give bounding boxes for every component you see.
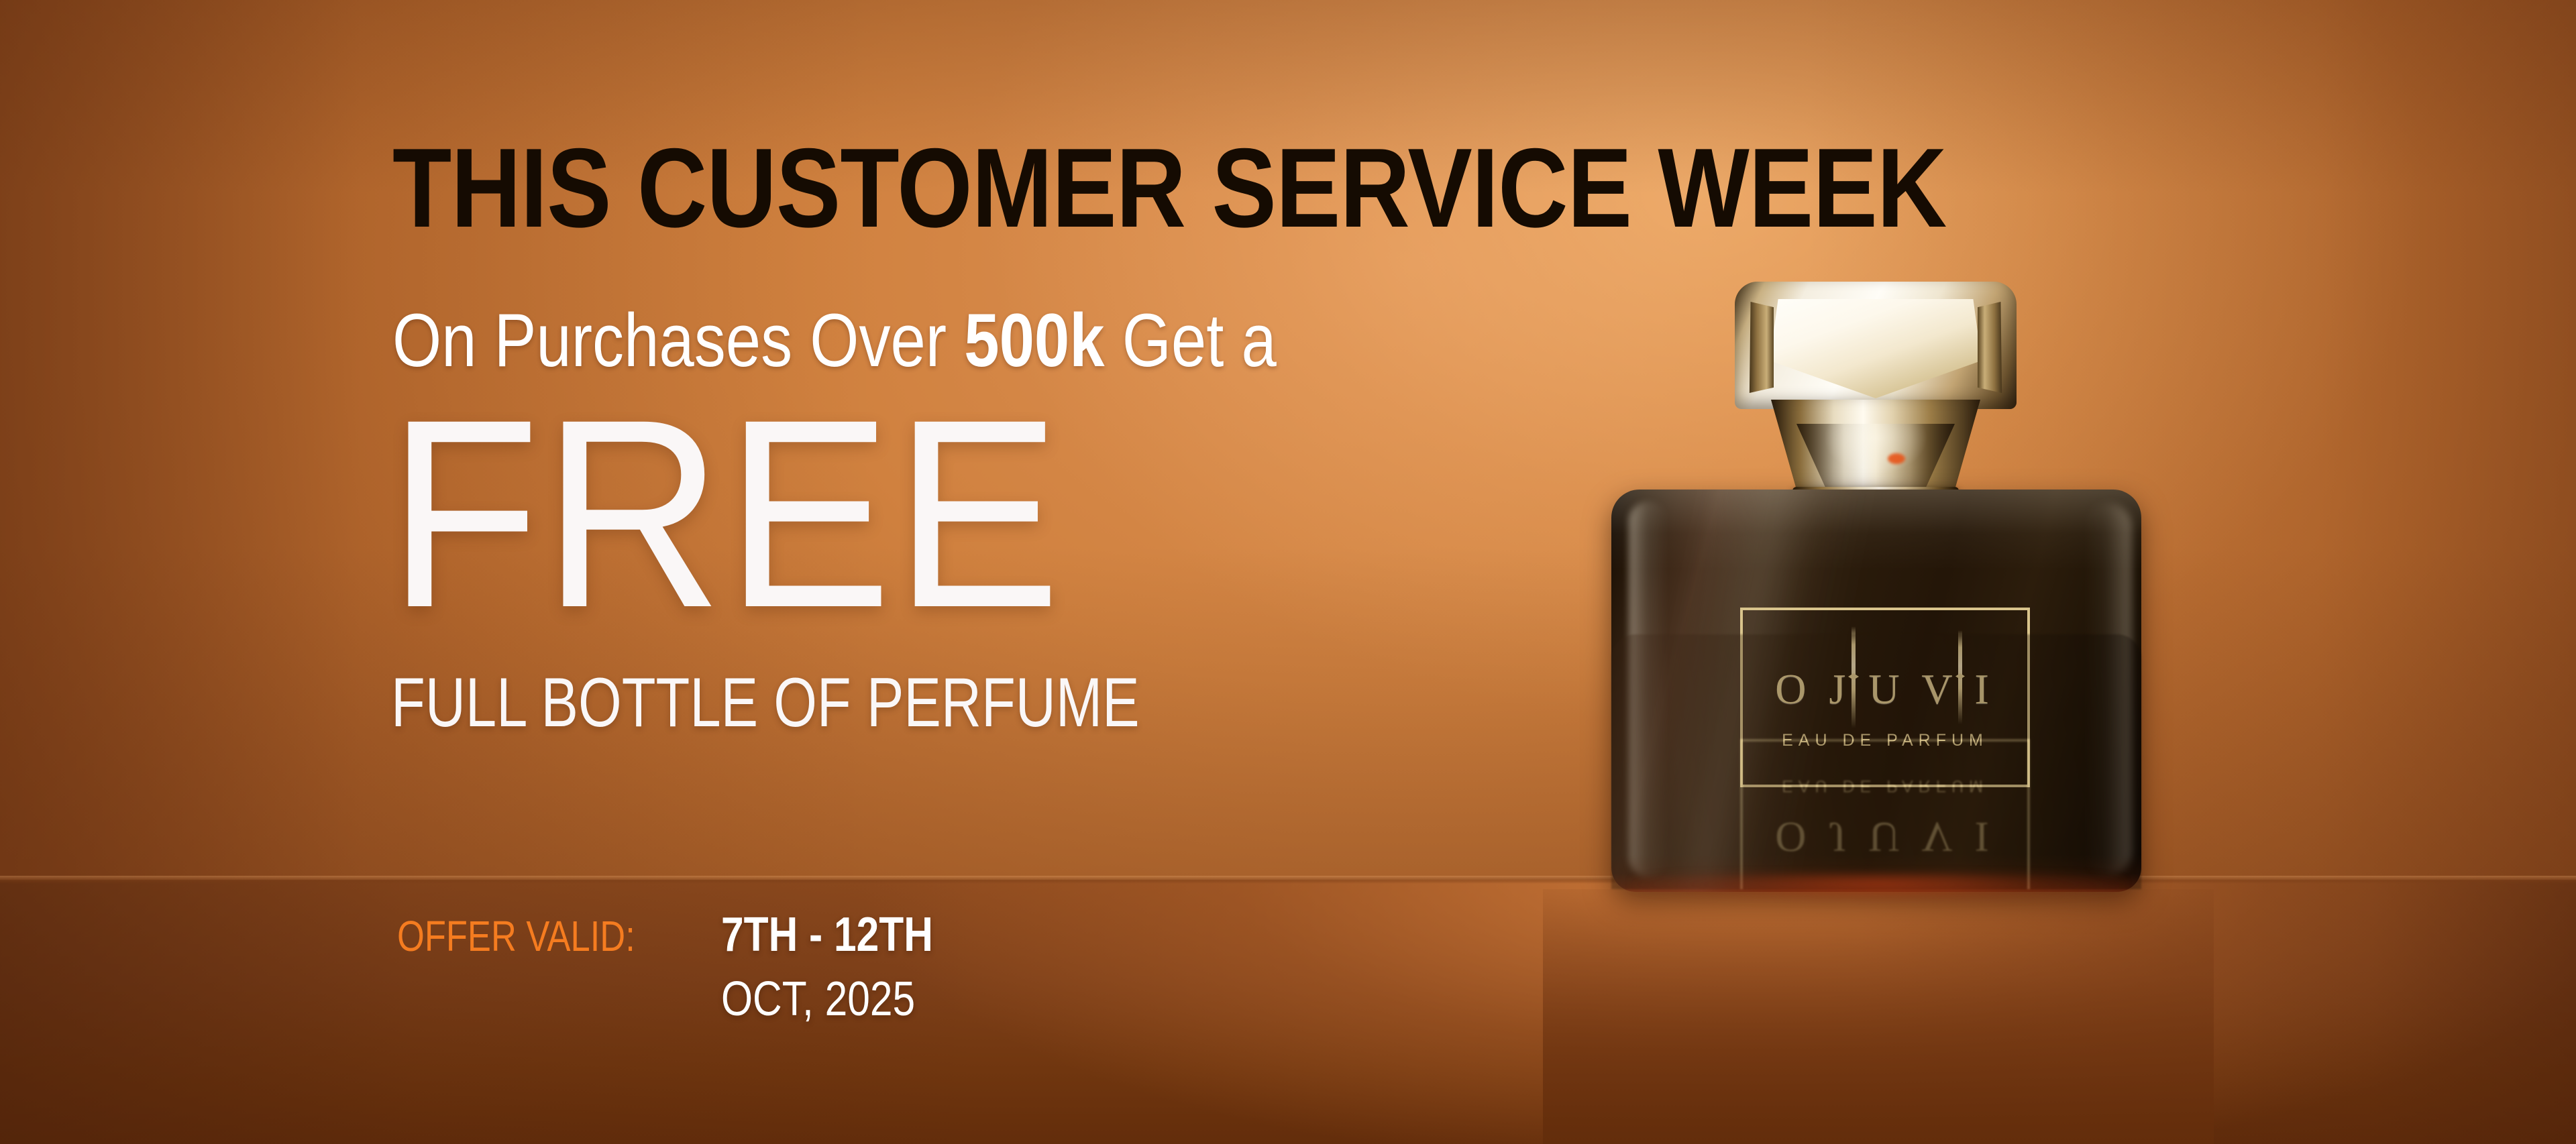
free-subtitle: FULL BOTTLE OF PERFUME: [391, 668, 1140, 738]
offer-dates: 7TH - 12TH OCT, 2025: [721, 911, 973, 1023]
promo-banner: THIS CUSTOMER SERVICE WEEK On Purchases …: [0, 0, 2576, 1144]
free-headline: FREE: [388, 380, 1063, 648]
perfume-bottle-icon: O J U V I EAU DE PARFUM: [1611, 490, 2141, 892]
brand-name: O J U V I: [1743, 668, 2027, 711]
bottle-left-gloss: [1629, 502, 1668, 877]
offer-validity-block: OFFER VALID: 7TH - 12TH OCT, 2025: [397, 911, 973, 1023]
bottle-top-gloss: [1611, 490, 2141, 570]
perfume-cap-icon: [1735, 282, 2017, 503]
perfume-product-image: O J U V I EAU DE PARFUM: [1597, 282, 2267, 1144]
bottle-right-gloss: [2084, 503, 2132, 876]
offer-date-range: 7TH - 12TH: [721, 911, 933, 959]
subline-suffix: Get a: [1105, 298, 1277, 382]
page-title: THIS CUSTOMER SERVICE WEEK: [392, 131, 1946, 244]
promo-copy-block: THIS CUSTOMER SERVICE WEEK On Purchases …: [0, 0, 1610, 1144]
bottle-label-inner: O J U V I EAU DE PARFUM: [1743, 610, 2027, 785]
bottle-bottom-glow: [1611, 854, 2141, 892]
bottle-label: O J U V I EAU DE PARFUM: [1740, 608, 2030, 787]
cap-highlight-spark: [1888, 453, 1905, 464]
offer-date-month: OCT, 2025: [721, 975, 933, 1023]
offer-valid-label: OFFER VALID:: [397, 911, 635, 958]
product-type-label: EAU DE PARFUM: [1743, 732, 2027, 749]
